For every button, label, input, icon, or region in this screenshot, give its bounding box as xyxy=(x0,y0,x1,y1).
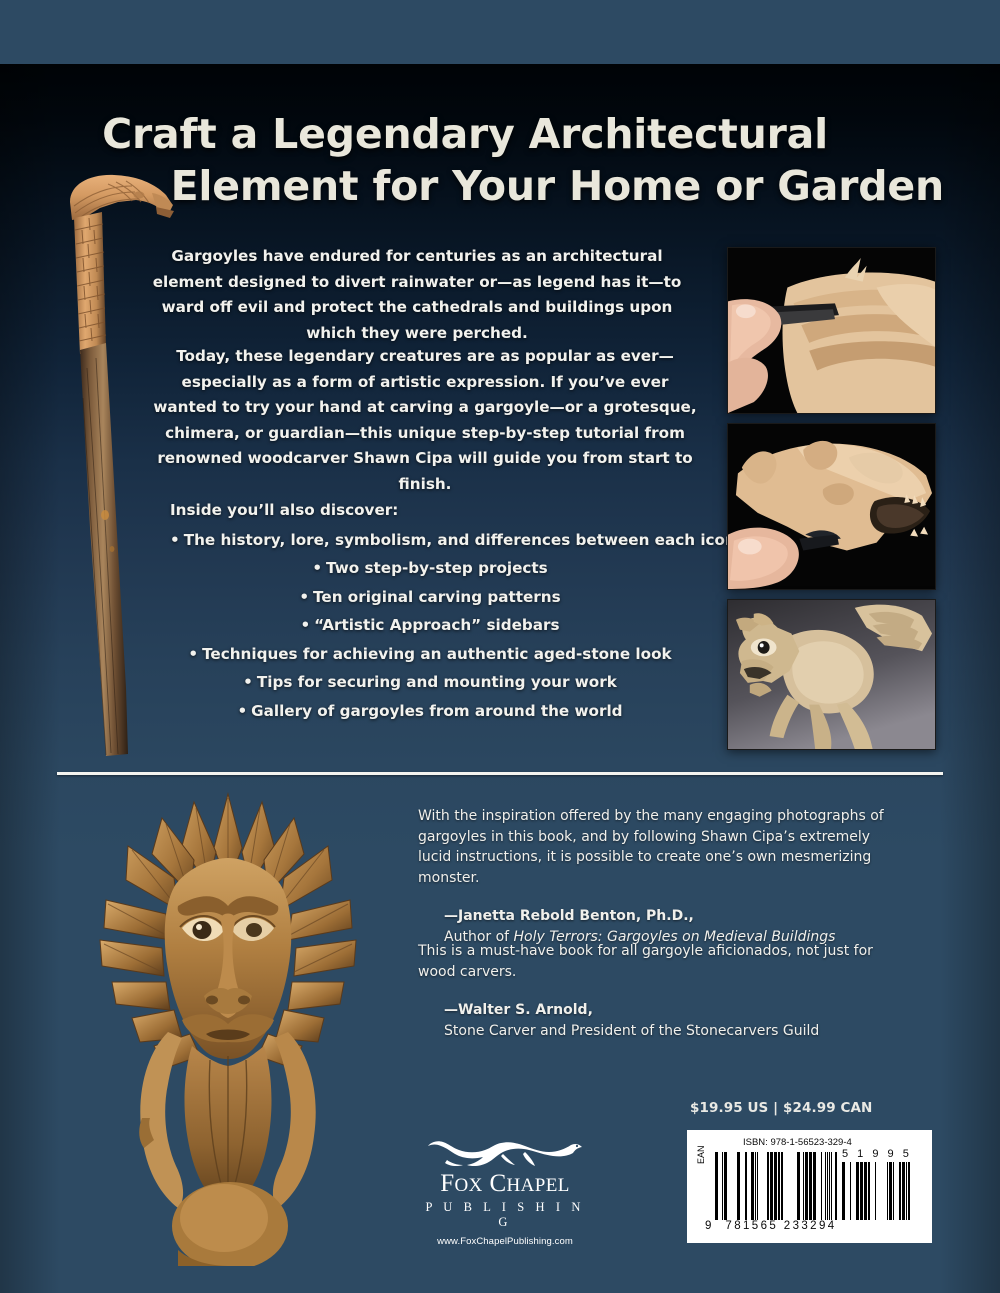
photo-carving-wing xyxy=(727,247,936,414)
running-fox-icon xyxy=(425,1136,585,1172)
barcode-supplement-bars xyxy=(842,1162,910,1220)
list-item-label: Gallery of gargoyles from around the wor… xyxy=(251,702,622,720)
bullet-icon: • xyxy=(237,702,247,720)
bullet-icon: • xyxy=(188,645,198,663)
list-item-label: Techniques for achieving an authentic ag… xyxy=(202,645,672,663)
headline-line-2: Element for Your Home or Garden xyxy=(0,160,944,212)
barcode-ean-label: EAN xyxy=(696,1145,706,1164)
publisher-subtitle: P U B L I S H I N G xyxy=(425,1200,585,1230)
page-title: Craft a Legendary Architectural Element … xyxy=(0,108,1000,212)
inside-list-lead: Inside you’ll also discover: xyxy=(170,498,690,524)
list-item: •Ten original carving patterns xyxy=(170,583,690,612)
inside-list: •The history, lore, symbolism, and diffe… xyxy=(170,526,690,726)
publisher-name-hapel: HAPEL xyxy=(507,1175,570,1196)
bullet-icon: • xyxy=(299,588,309,606)
publisher-name-ox: OX xyxy=(455,1175,483,1196)
inside-discover-block: Inside you’ll also discover: •The histor… xyxy=(170,498,690,725)
publisher-name-c: C xyxy=(489,1170,506,1197)
list-item: •Techniques for achieving an authentic a… xyxy=(170,640,690,669)
section-divider xyxy=(57,772,943,775)
publisher-logo[interactable]: FOX CHAPEL P U B L I S H I N G www.FoxCh… xyxy=(425,1136,585,1247)
barcode: ISBN: 978-1-56523-329-4 EAN 5 1 9 9 5 9 … xyxy=(687,1130,932,1243)
list-item: •Tips for securing and mounting your wor… xyxy=(170,668,690,697)
barcode-digits: 9 781565 233294 xyxy=(705,1220,845,1232)
list-item: •“Artistic Approach” sidebars xyxy=(170,611,690,640)
barcode-digit-left: 9 xyxy=(705,1220,714,1232)
bullet-icon: • xyxy=(243,673,253,691)
photo-finished-gargoyle xyxy=(727,599,936,750)
publisher-name-f: F xyxy=(440,1170,454,1197)
list-item-label: “Artistic Approach” sidebars xyxy=(314,616,559,634)
intro-paragraph-2: Today, these legendary creatures are as … xyxy=(152,344,698,497)
review-block-2: This is a must-have book for all gargoyl… xyxy=(418,941,896,1041)
barcode-isbn-label: ISBN: 978-1-56523-329-4 xyxy=(743,1137,852,1148)
list-item-label: Ten original carving patterns xyxy=(313,588,561,606)
barcode-main-bars xyxy=(715,1152,837,1220)
review-block-1: With the inspiration offered by the many… xyxy=(418,806,896,947)
list-item-label: Two step-by-step projects xyxy=(326,559,548,577)
price-label: $19.95 US | $24.99 CAN xyxy=(690,1100,872,1116)
list-item: •The history, lore, symbolism, and diffe… xyxy=(170,526,690,555)
bullet-icon: • xyxy=(300,616,310,634)
list-item-label: Tips for securing and mounting your work xyxy=(257,673,617,691)
review-author: —Janetta Rebold Benton, Ph.D., xyxy=(444,906,896,927)
review-author-role: Stone Carver and President of the Stonec… xyxy=(444,1021,896,1042)
barcode-supplement-digits: 5 1 9 9 5 xyxy=(842,1148,912,1160)
list-item: •Two step-by-step projects xyxy=(170,554,690,583)
book-back-cover: Craft a Legendary Architectural Element … xyxy=(0,0,1000,1293)
headline-line-1: Craft a Legendary Architectural xyxy=(0,108,944,160)
review-quote: With the inspiration offered by the many… xyxy=(418,806,896,888)
publisher-url[interactable]: www.FoxChapelPublishing.com xyxy=(425,1236,585,1247)
review-quote: This is a must-have book for all gargoyl… xyxy=(418,941,896,982)
bullet-icon: • xyxy=(312,559,322,577)
bullet-icon: • xyxy=(170,531,180,549)
list-item: •Gallery of gargoyles from around the wo… xyxy=(170,697,690,726)
list-item-label: The history, lore, symbolism, and differ… xyxy=(184,531,736,549)
review-attribution: —Walter S. Arnold, Stone Carver and Pres… xyxy=(418,1000,896,1041)
intro-paragraph-1: Gargoyles have endured for centuries as … xyxy=(136,244,698,346)
photo-carving-gargoyle-head xyxy=(727,423,936,590)
publisher-name: FOX CHAPEL xyxy=(425,1170,585,1199)
review-author: —Walter S. Arnold, xyxy=(444,1000,896,1021)
barcode-digit-main: 781565 233294 xyxy=(725,1220,836,1232)
